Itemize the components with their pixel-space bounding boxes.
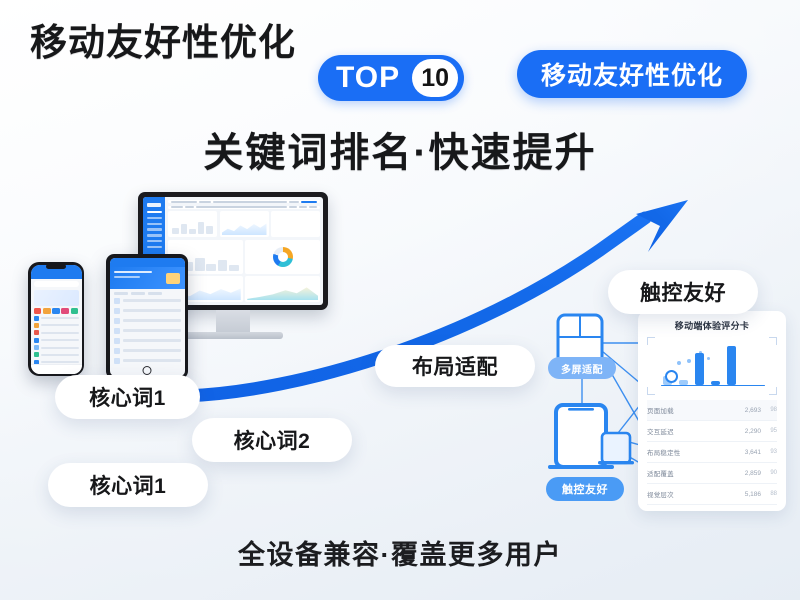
table-row: 适配覆盖 2,859 90 [647, 463, 777, 484]
tablet-tabs [110, 289, 185, 298]
dashboard-donut-card [245, 240, 320, 274]
phone-list-item [34, 345, 79, 350]
top-badge-word: TOP [336, 63, 412, 93]
diagram-pill-top[interactable]: 多屏适配 [548, 357, 616, 379]
mini-area-chart [247, 286, 318, 300]
row-value: 5,186 [735, 491, 761, 498]
scorecard-panel: 移动端体验评分卡 页面加载 [638, 311, 786, 511]
table-row: 触摸目标尺寸 2,249 84 [647, 505, 777, 511]
dashboard-nav-item [147, 217, 162, 219]
phone-mockup [28, 262, 84, 376]
row-value: 2,859 [735, 470, 761, 477]
mobile-experience-diagram: 多屏适配 触控友好 移动端体验评分卡 [540, 305, 790, 515]
dashboard-card-row [168, 240, 320, 274]
tablet-list-item [114, 348, 181, 354]
feature-pill-layout[interactable]: 布局适配 [375, 345, 535, 387]
row-name: 布局稳定性 [647, 447, 735, 457]
keyword-pill-3[interactable]: 核心词1 [48, 463, 208, 507]
tablet-hero-banner [110, 267, 185, 289]
phone-list-item [34, 352, 79, 357]
dashboard-logo [147, 203, 161, 207]
phone-list-item [34, 323, 79, 328]
dashboard-nav-item [147, 211, 162, 213]
dashboard-topbar [168, 200, 320, 203]
row-delta: 90 [761, 470, 777, 476]
tablet-home-button [143, 366, 152, 375]
dashboard-content [165, 197, 323, 305]
phone-icon-row [34, 308, 79, 314]
tablet-list-item [114, 298, 181, 304]
phone-tabbar [31, 364, 82, 374]
phone-list-item [34, 316, 79, 321]
row-name: 视觉层次 [647, 489, 735, 499]
dashboard-card [220, 211, 269, 237]
tablet-list-item [114, 328, 181, 334]
dashboard-card-row [168, 276, 320, 302]
tablet-screen [110, 258, 185, 376]
phone-search-bar [34, 281, 79, 287]
scorecard-bars [663, 341, 765, 385]
row-value: 3,641 [735, 449, 761, 456]
dashboard-nav-item [147, 246, 162, 248]
feature-pill-touch[interactable]: 触控友好 [608, 270, 758, 314]
table-row: 页面加载 2,693 98 [647, 400, 777, 421]
location-pin-icon [665, 370, 678, 383]
scorecard-chart [647, 337, 777, 395]
row-value: 2,290 [735, 428, 761, 435]
row-name: 页面加载 [647, 405, 735, 415]
tablet-list-item [114, 338, 181, 344]
row-delta: 95 [761, 428, 777, 434]
tablet-list-item [114, 318, 181, 324]
phone-list-item [34, 338, 79, 343]
tablet-list-item [114, 358, 181, 364]
poster-canvas: 移动友好性优化 TOP 10 移动友好性优化 关键词排名·快速提升 [0, 0, 800, 600]
diagram-pill-bottom[interactable]: 触控友好 [546, 477, 624, 501]
dashboard-nav-item [147, 240, 162, 242]
phone-screen [31, 265, 82, 374]
keyword-pill-2[interactable]: 核心词2 [192, 418, 352, 462]
phone-hero-banner [34, 290, 79, 306]
row-delta: 88 [761, 491, 777, 497]
monitor-stand-base [183, 332, 283, 339]
dashboard-card [271, 211, 320, 237]
header-tag-pill: 移动友好性优化 [517, 50, 747, 98]
row-name: 交互延迟 [647, 426, 735, 436]
scorecard-table: 页面加载 2,693 98 交互延迟 2,290 95 布局稳定性 3,641 … [647, 400, 777, 511]
dashboard-card [168, 211, 217, 237]
phone-notch [46, 264, 66, 269]
dashboard-nav-item [147, 223, 162, 225]
table-row: 视觉层次 5,186 88 [647, 484, 777, 505]
monitor-stand-neck [216, 310, 250, 332]
dashboard-nav-item [147, 234, 162, 236]
table-row: 交互延迟 2,290 95 [647, 421, 777, 442]
tablet-mockup [106, 254, 188, 379]
row-delta: 93 [761, 449, 777, 455]
mini-line-chart [222, 221, 267, 235]
diagram-laptop [598, 433, 634, 464]
row-delta: 98 [761, 407, 777, 413]
row-value: 2,693 [735, 407, 761, 414]
tablet-statusbar [110, 258, 185, 267]
footer-tagline: 全设备兼容·覆盖更多用户 [0, 533, 800, 572]
mini-bar-chart [172, 218, 213, 234]
dashboard-filterbar [168, 206, 320, 209]
page-title: 移动友好性优化 [30, 24, 296, 61]
keyword-pill-1[interactable]: 核心词1 [55, 375, 200, 419]
tablet-list-item [114, 308, 181, 314]
dashboard-card-row [168, 211, 320, 237]
page-subtitle: 关键词排名·快速提升 [0, 120, 800, 178]
row-name: 触摸目标尺寸 [647, 510, 735, 511]
phone-list-item [34, 330, 79, 335]
scorecard-title: 移动端体验评分卡 [647, 319, 777, 332]
donut-chart [273, 247, 293, 267]
top-rank-badge: TOP 10 [318, 55, 464, 101]
table-row: 布局稳定性 3,641 93 [647, 442, 777, 463]
dashboard-nav-item [147, 228, 162, 230]
top-badge-number: 10 [412, 59, 458, 97]
dashboard-card [245, 276, 320, 302]
row-name: 适配覆盖 [647, 468, 735, 478]
